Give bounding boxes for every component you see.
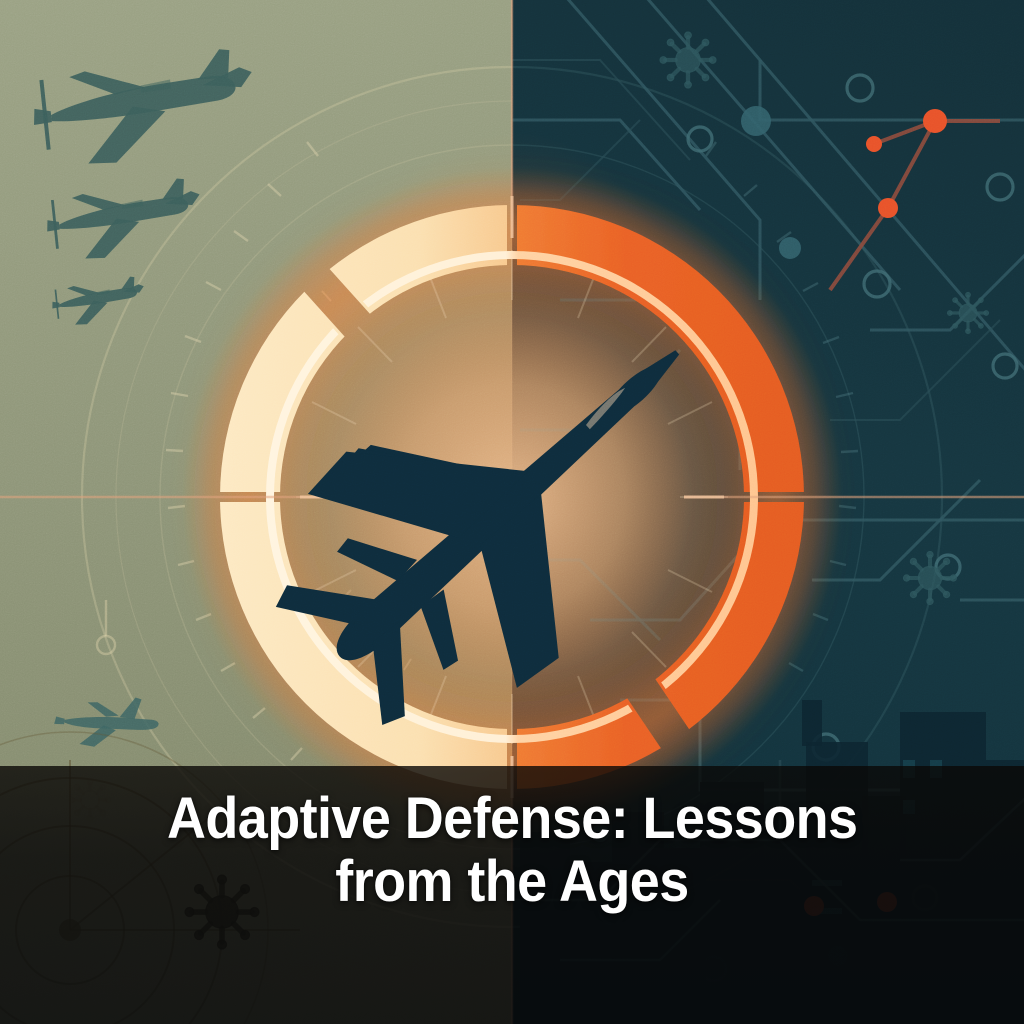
page-title-line-1: Adaptive Defense: Lessons (167, 788, 857, 851)
page-title-line-2: from the Ages (335, 851, 688, 914)
title-banner: Adaptive Defense: Lessons from the Ages (0, 766, 1024, 1024)
poster-canvas: Adaptive Defense: Lessons from the Ages (0, 0, 1024, 1024)
